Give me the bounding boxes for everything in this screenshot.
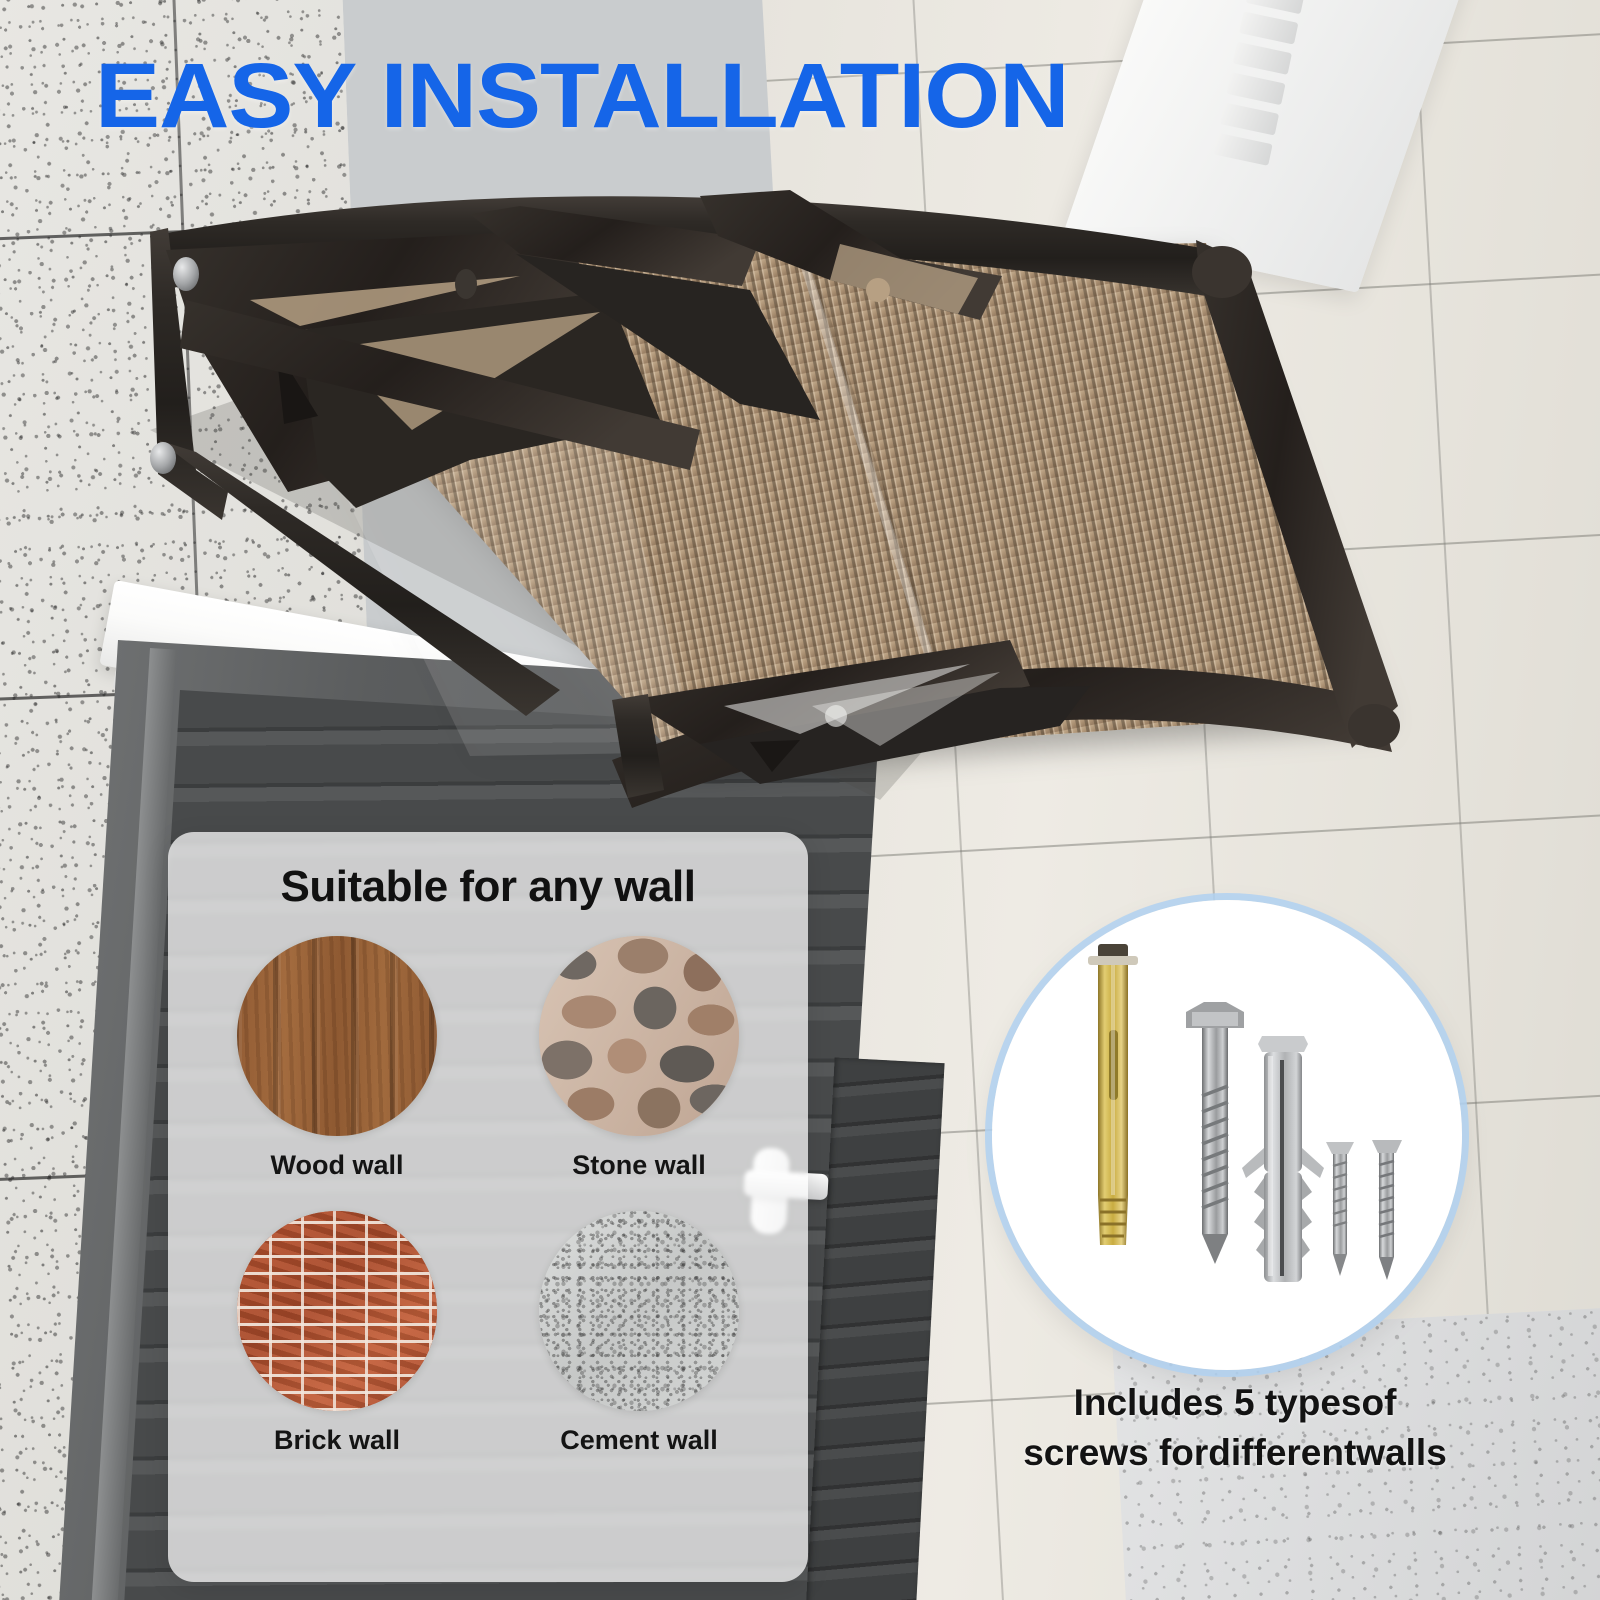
wall-swatch-brick: Brick wall — [192, 1211, 482, 1456]
cement-texture-icon — [539, 1211, 739, 1411]
hardware-caption: Includes 5 typesof screws fordifferentwa… — [1000, 1378, 1470, 1478]
mount-bolt-top — [173, 257, 199, 291]
stone-texture-circle — [539, 936, 739, 1136]
stone-wall-label: Stone wall — [494, 1150, 784, 1181]
wall-swatch-wood: Wood wall — [192, 936, 482, 1181]
endcap-cap-bottom — [1348, 704, 1400, 748]
wood-texture-icon — [237, 936, 437, 1136]
brick-texture-icon — [237, 1211, 437, 1411]
cement-wall-label: Cement wall — [494, 1425, 784, 1456]
brace-hole — [866, 278, 890, 302]
wall-swatch-cement: Cement wall — [494, 1211, 784, 1456]
mount-bolt-bottom — [150, 442, 176, 474]
cement-texture-circle — [539, 1211, 739, 1411]
hardware-caption-line1: Includes 5 typesof — [1000, 1378, 1470, 1428]
brick-wall-label: Brick wall — [192, 1425, 482, 1456]
wood-texture-circle — [237, 936, 437, 1136]
suitable-walls-title: Suitable for any wall — [168, 862, 808, 912]
countersunk-screw-small-icon-2 — [1372, 1140, 1402, 1280]
product-marketing-image: EASY INSTALLATION Suitable for any wall … — [0, 0, 1600, 1600]
wall-plug-anchor-icon — [1242, 1036, 1324, 1282]
wood-wall-label: Wood wall — [192, 1150, 482, 1181]
countersunk-screw-small-icon — [1326, 1142, 1354, 1276]
expansion-anchor-bolt-icon — [1088, 944, 1138, 1245]
hardware-caption-line2: screws fordifferentwalls — [1000, 1428, 1470, 1478]
page-title: EASY INSTALLATION — [95, 44, 1068, 149]
wall-swatch-stone: Stone wall — [494, 936, 784, 1181]
stone-texture-icon — [539, 936, 739, 1136]
endcap-cap-top — [1192, 246, 1252, 298]
wall-swatch-grid: Wood wall Stone wall Brick wall Cement w… — [192, 936, 784, 1456]
brick-texture-circle — [237, 1211, 437, 1411]
hex-lag-screw-icon — [1186, 1002, 1244, 1264]
hardware-kit-circle — [992, 900, 1462, 1370]
suitable-walls-panel: Suitable for any wall Wood wall Stone wa… — [168, 832, 808, 1582]
